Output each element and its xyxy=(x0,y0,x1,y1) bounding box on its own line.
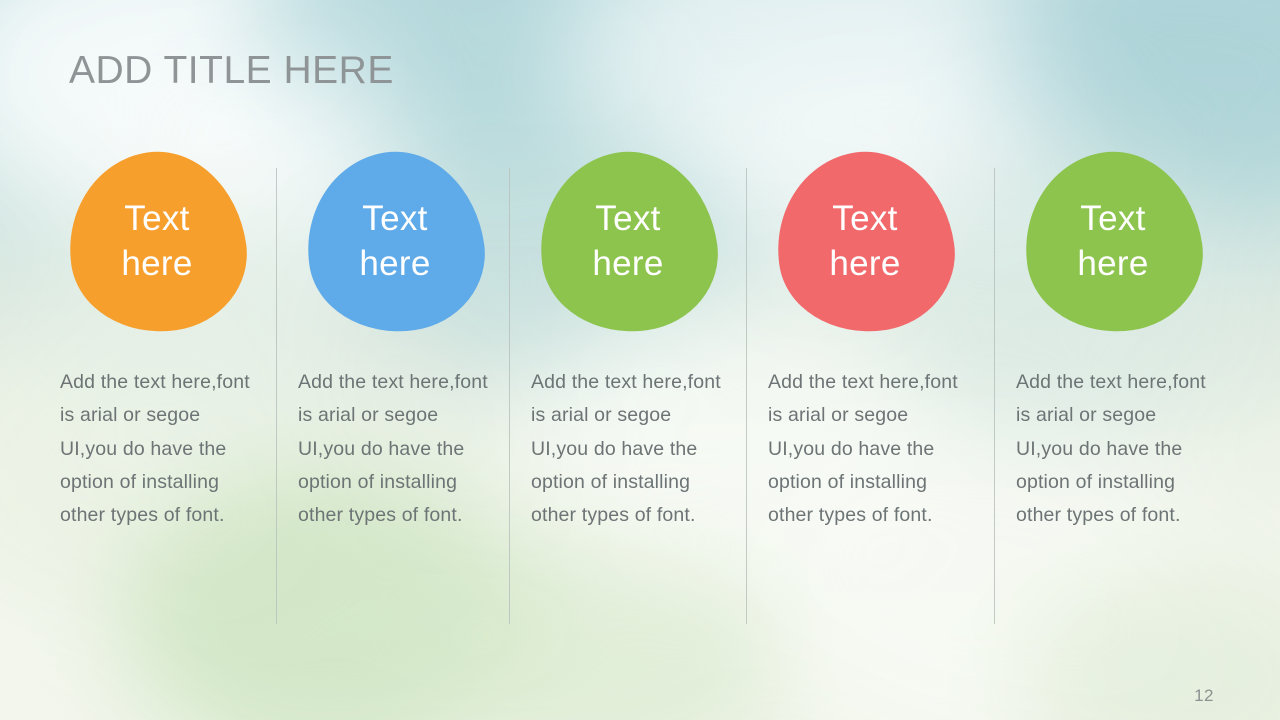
blob-label-2: Text here xyxy=(307,152,483,332)
blob-label-line2: here xyxy=(592,242,663,287)
blob-label-line1: Text xyxy=(124,197,189,242)
column-body-text-1: Add the text here,font is arial or segoe… xyxy=(60,366,262,532)
slide-canvas: ADD TITLE HERE Text here Add the text he… xyxy=(0,0,1280,720)
blob-label-line2: here xyxy=(121,242,192,287)
blob-label-line1: Text xyxy=(832,197,897,242)
column-divider-4 xyxy=(994,168,995,624)
blob-shape-2[interactable]: Text here xyxy=(307,152,483,332)
column-body-text-2: Add the text here,font is arial or segoe… xyxy=(298,366,500,532)
blob-shape-5[interactable]: Text here xyxy=(1025,152,1201,332)
blob-label-1: Text here xyxy=(69,152,245,332)
content-column-4: Text here Add the text here,font is aria… xyxy=(746,0,983,720)
blob-shape-4[interactable]: Text here xyxy=(777,152,953,332)
blob-label-line2: here xyxy=(829,242,900,287)
content-columns: Text here Add the text here,font is aria… xyxy=(0,0,1280,720)
blob-label-line2: here xyxy=(359,242,430,287)
blob-label-line1: Text xyxy=(595,197,660,242)
blob-shape-1[interactable]: Text here xyxy=(69,152,245,332)
blob-label-3: Text here xyxy=(540,152,716,332)
column-divider-1 xyxy=(276,168,277,624)
column-body-text-5: Add the text here,font is arial or segoe… xyxy=(1016,366,1218,532)
content-column-5: Text here Add the text here,font is aria… xyxy=(994,0,1231,720)
blob-label-line1: Text xyxy=(362,197,427,242)
column-divider-3 xyxy=(746,168,747,624)
content-column-3: Text here Add the text here,font is aria… xyxy=(509,0,746,720)
content-column-2: Text here Add the text here,font is aria… xyxy=(276,0,513,720)
blob-label-5: Text here xyxy=(1025,152,1201,332)
content-column-1: Text here Add the text here,font is aria… xyxy=(38,0,275,720)
column-body-text-4: Add the text here,font is arial or segoe… xyxy=(768,366,970,532)
page-number: 12 xyxy=(1194,686,1214,706)
blob-label-line1: Text xyxy=(1080,197,1145,242)
blob-label-line2: here xyxy=(1077,242,1148,287)
column-divider-2 xyxy=(509,168,510,624)
blob-label-4: Text here xyxy=(777,152,953,332)
blob-shape-3[interactable]: Text here xyxy=(540,152,716,332)
column-body-text-3: Add the text here,font is arial or segoe… xyxy=(531,366,733,532)
